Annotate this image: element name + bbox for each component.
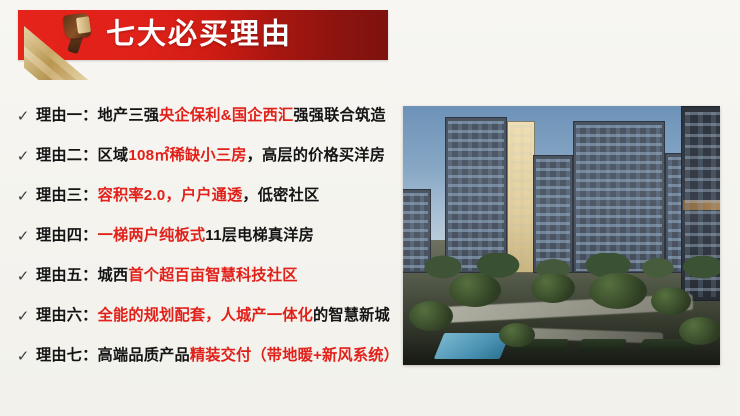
reason-item-text: 理由七：高端品质产品精装交付（带地暖+新风系统） xyxy=(36,348,399,365)
body-text: 理由四： xyxy=(36,227,98,244)
body-text: ，高层的价格买洋房 xyxy=(247,147,386,164)
reason-item-1: ✓理由一：地产三强央企保利&国企西汇强强联合筑造 xyxy=(10,96,402,136)
slide-canvas: 七大必买理由 ✓理由一：地产三强央企保利&国企西汇强强联合筑造✓理由二：区域10… xyxy=(0,0,740,416)
reason-item-7: ✓理由七：高端品质产品精装交付（带地暖+新风系统） xyxy=(10,336,402,376)
tree-canopy xyxy=(499,323,535,347)
hedge xyxy=(577,339,627,351)
reason-list: ✓理由一：地产三强央企保利&国企西汇强强联合筑造✓理由二：区域108㎡稀缺小三房… xyxy=(10,96,402,376)
tree-canopy xyxy=(679,317,720,345)
body-text: 理由五：城西 xyxy=(36,267,128,284)
check-icon: ✓ xyxy=(10,189,36,204)
body-text: 理由三： xyxy=(36,187,98,204)
reason-item-3: ✓理由三：容积率2.0，户户通透，低密社区 xyxy=(10,176,402,216)
reason-item-text: 理由三：容积率2.0，户户通透，低密社区 xyxy=(36,188,319,205)
check-icon: ✓ xyxy=(10,309,36,324)
body-text: 理由一：地产三强 xyxy=(36,107,159,124)
reason-item-4: ✓理由四：一梯两户纯板式11层电梯真洋房 xyxy=(10,216,402,256)
building-tower xyxy=(573,121,665,273)
building-tower xyxy=(507,121,535,273)
title-banner: 七大必买理由 xyxy=(18,10,388,60)
building-tower xyxy=(445,117,507,273)
gold-ribbon-icon xyxy=(24,12,104,80)
reason-item-text: 理由二：区域108㎡稀缺小三房，高层的价格买洋房 xyxy=(36,148,385,165)
development-render-image xyxy=(403,106,720,365)
reason-item-text: 理由六：全能的规划配套，人城产一体化的智慧新城 xyxy=(36,308,390,325)
body-text: 11层电梯真洋房 xyxy=(205,227,314,244)
highlight-text: 首个超百亩智慧科技社区 xyxy=(128,267,297,284)
body-text: 强强联合筑造 xyxy=(293,107,385,124)
highlight-text: 108㎡稀缺小三房 xyxy=(128,147,246,164)
reason-item-text: 理由四：一梯两户纯板式11层电梯真洋房 xyxy=(36,228,314,245)
body-text: 的智慧新城 xyxy=(313,307,390,324)
highlight-text: 精装交付（带地暖+新风系统） xyxy=(190,347,399,364)
check-icon: ✓ xyxy=(10,269,36,284)
body-text: 理由六： xyxy=(36,307,98,324)
tree-canopy xyxy=(531,273,575,303)
reason-item-6: ✓理由六：全能的规划配套，人城产一体化的智慧新城 xyxy=(10,296,402,336)
tree-canopy xyxy=(409,301,453,331)
highlight-text: 容积率2.0，户户通透 xyxy=(98,187,243,204)
check-icon: ✓ xyxy=(10,349,36,364)
reason-item-5: ✓理由五：城西首个超百亩智慧科技社区 xyxy=(10,256,402,296)
tree-canopy xyxy=(449,273,501,307)
body-text: 理由二：区域 xyxy=(36,147,128,164)
body-text: ，低密社区 xyxy=(242,187,319,204)
tree-canopy xyxy=(651,287,691,315)
highlight-text: 一梯两户纯板式 xyxy=(98,227,206,244)
reason-item-text: 理由五：城西首个超百亩智慧科技社区 xyxy=(36,268,298,285)
check-icon: ✓ xyxy=(10,149,36,164)
tree-canopy xyxy=(589,273,647,309)
page-title: 七大必买理由 xyxy=(106,21,292,50)
body-text: 理由七：高端品质产品 xyxy=(36,347,190,364)
highlight-text: 全能的规划配套，人城产一体化 xyxy=(98,307,313,324)
check-icon: ✓ xyxy=(10,109,36,124)
reason-item-2: ✓理由二：区域108㎡稀缺小三房，高层的价格买洋房 xyxy=(10,136,402,176)
check-icon: ✓ xyxy=(10,229,36,244)
reason-item-text: 理由一：地产三强央企保利&国企西汇强强联合筑造 xyxy=(36,108,386,125)
highlight-text: 央企保利&国企西汇 xyxy=(159,107,293,124)
